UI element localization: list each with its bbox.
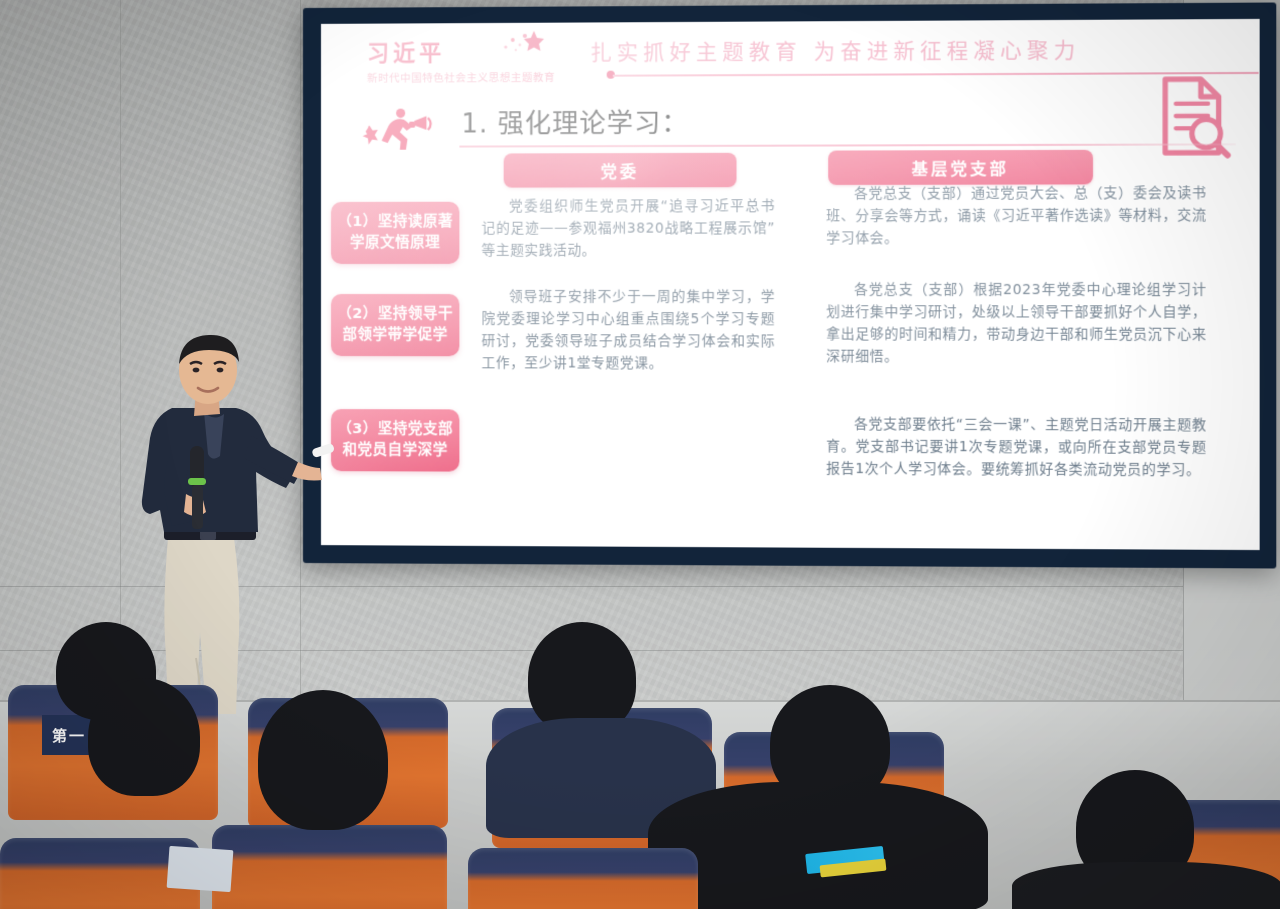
column-heading-grassroots-branch: 基层党支部 <box>828 150 1093 185</box>
microphone-band <box>188 478 206 485</box>
section-rule <box>459 143 1235 147</box>
seat-back <box>468 848 698 909</box>
slide-header-title: 扎实抓好主题教育 为奋进新征程凝心聚力 <box>590 34 1163 67</box>
audience-shoulders <box>648 782 988 909</box>
wall-panel <box>0 0 121 700</box>
audience-area: 第一 <box>0 600 1280 909</box>
paragraph-party-1: 党委组织师生党员开展“追寻习近平总书记的足迹——参观福州3820战略工程展示馆”… <box>482 195 776 262</box>
column-heading-party-committee: 党委 <box>504 153 737 188</box>
lecture-hall-scene: 习近平 新时代中国特色社会主义思想主题教育 扎实抓好主题教育 为奋进新征程凝心聚… <box>0 0 1280 909</box>
audience-shoulders <box>1012 862 1280 909</box>
badge-line-2: 学原文悟原理 <box>350 235 440 251</box>
projection-screen-frame: 习近平 新时代中国特色社会主义思想主题教育 扎实抓好主题教育 为奋进新征程凝心聚… <box>303 2 1276 568</box>
paragraph-branch-3: 各党支部要依托“三会一课”、主题党日活动开展主题教育。党支部书记要讲1次专题党课… <box>826 413 1207 481</box>
seat-back <box>212 825 447 909</box>
badge-line-1: （3）坚持党支部 <box>337 421 453 437</box>
audience-head <box>88 678 200 796</box>
section-title: 1. 强化理论学习： <box>461 103 688 141</box>
sparkle-stars-icon <box>471 27 562 58</box>
audience-head <box>258 690 388 830</box>
paragraph-branch-1: 各党总支（支部）通过党员大会、总（支）委会及读书班、分享会等方式，诵读《习近平著… <box>826 182 1207 250</box>
badge-line-1: （2）坚持领导干 <box>337 306 453 322</box>
laser-pointer-icon <box>311 443 335 458</box>
paragraph-branch-2: 各党总支（支部）根据2023年党委中心理论组学习计划进行集中学习研讨，处级以上领… <box>826 279 1207 369</box>
badge-line-1: （1）坚持读原著 <box>337 214 453 230</box>
running-person-megaphone-icon <box>361 106 437 150</box>
presentation-slide: 习近平 新时代中国特色社会主义思想主题教育 扎实抓好主题教育 为奋进新征程凝心聚… <box>321 19 1260 550</box>
badge-line-2: 部领学带学促学 <box>343 327 448 343</box>
badge-line-2: 和党员自学深学 <box>343 442 448 458</box>
badge-item-2: （2）坚持领导干部领学带学促学 <box>331 294 459 356</box>
section-heading-row: 1. 强化理论学习： <box>351 99 1186 152</box>
badge-item-1: （1）坚持读原著学原文悟原理 <box>331 202 459 264</box>
badge-item-3: （3）坚持党支部和党员自学深学 <box>331 409 459 472</box>
paragraph-party-2: 领导班子安排不少于一周的集中学习，学院党委理论学习中心组重点围绕5个学习专题研讨… <box>482 286 776 375</box>
projection-screen: 习近平 新时代中国特色社会主义思想主题教育 扎实抓好主题教育 为奋进新征程凝心聚… <box>321 19 1260 550</box>
brand-subtitle: 新时代中国特色社会主义思想主题教育 <box>367 69 669 85</box>
laptop-screen <box>167 846 234 892</box>
